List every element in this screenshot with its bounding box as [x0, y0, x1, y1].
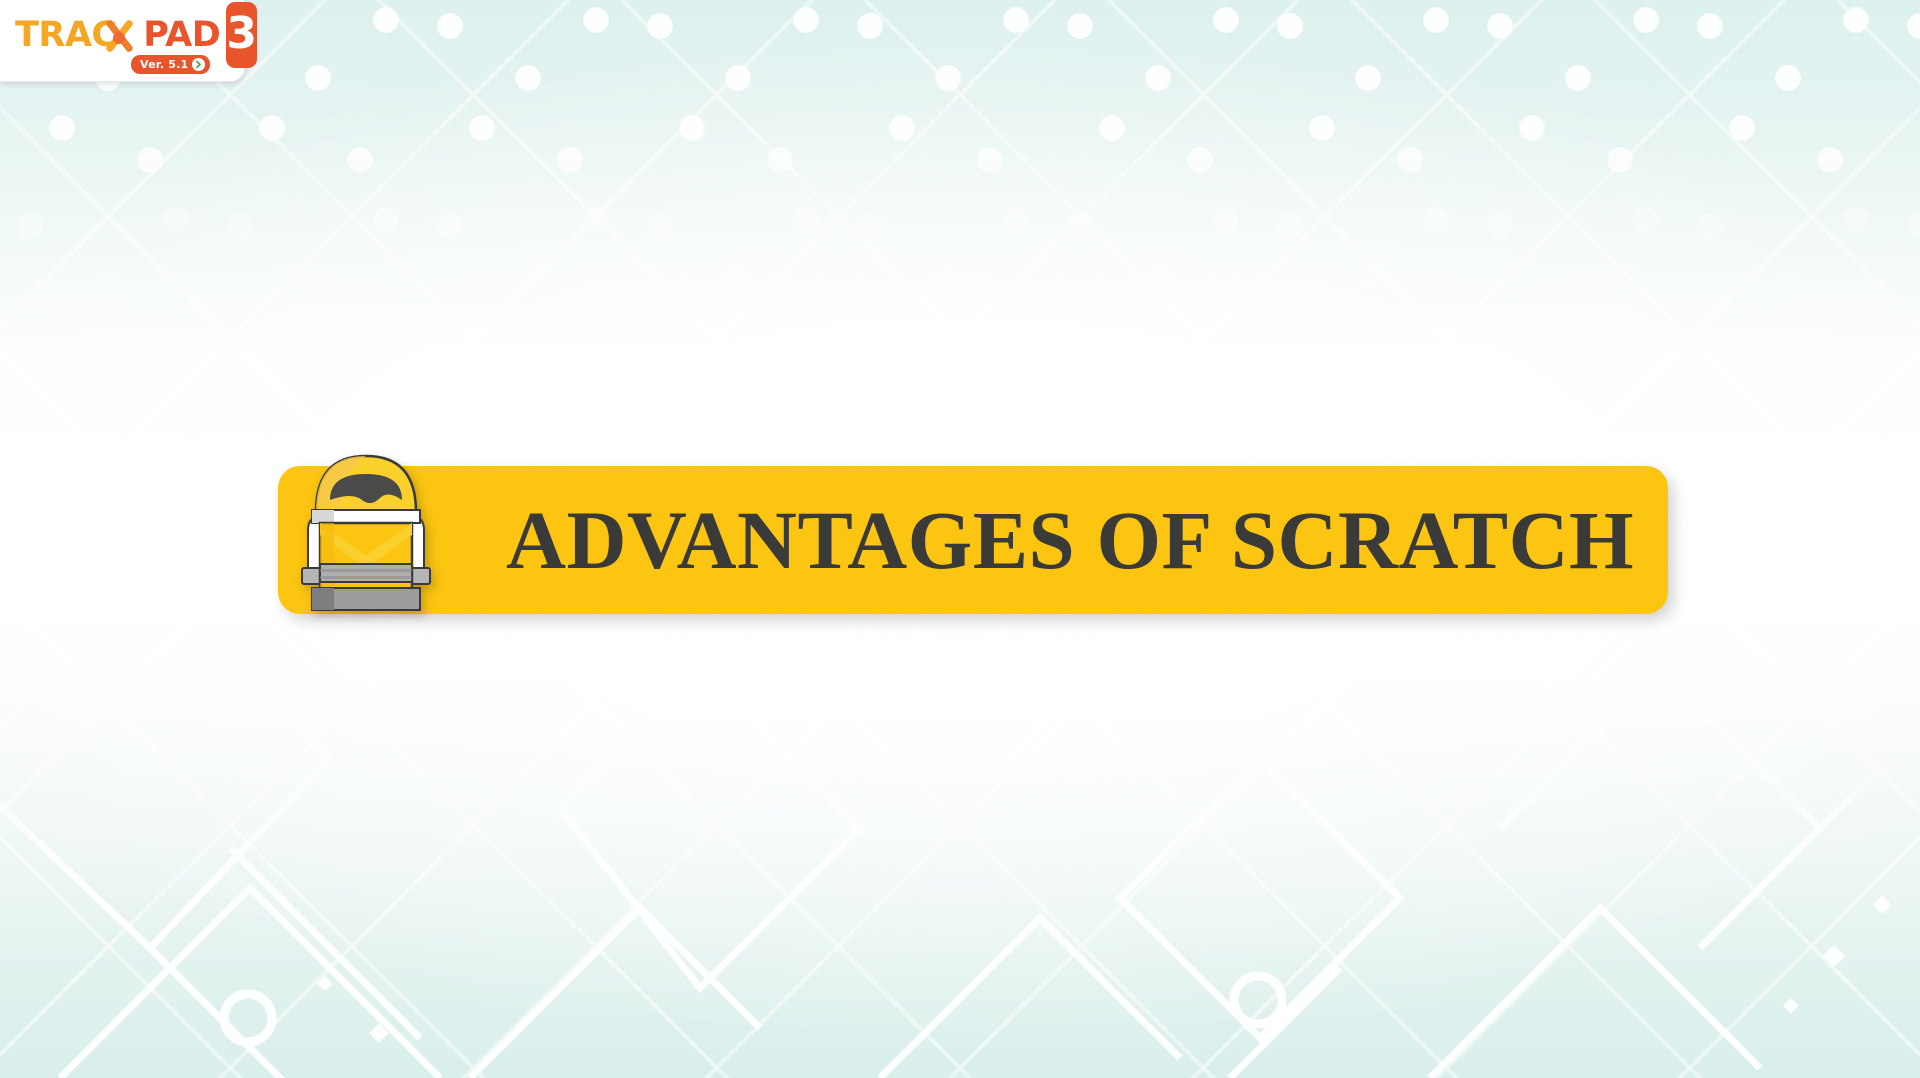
logo-edition-badge: 3: [226, 2, 257, 68]
logo-wordmark: TRACKPAD Ver. 5.1: [15, 18, 220, 53]
circuit-trace-svg: [0, 648, 1920, 1078]
logo-text-pad: PAD: [143, 15, 220, 55]
version-label: Ver. 5.1: [140, 59, 188, 70]
version-badge: Ver. 5.1: [131, 55, 210, 74]
background-circuit-pattern: [0, 648, 1920, 1078]
arrow-right-circle-icon: [192, 58, 205, 71]
page-title: ADVANTAGES OF SCRATCH: [506, 499, 1634, 582]
logo-x-mark-icon: [104, 19, 134, 53]
logo-text-trac: TRAC: [15, 15, 117, 55]
background-dot-pattern: [0, 0, 1920, 300]
slide-canvas: TRACKPAD Ver. 5.1 3 ADVANTAGES OF SCRATC…: [0, 0, 1920, 1078]
title-banner: ADVANTAGES OF SCRATCH: [278, 466, 1668, 614]
robot-mascot-icon: [280, 438, 452, 618]
trackpad-logo[interactable]: TRACKPAD Ver. 5.1 3: [0, 0, 245, 82]
